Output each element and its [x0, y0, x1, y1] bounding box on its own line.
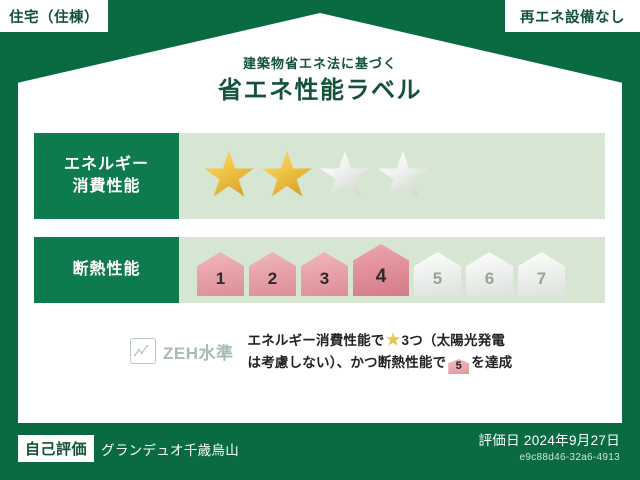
zeh-criteria-text: エネルギー消費性能で3つ（太陽光発電は考慮しない）、かつ断熱性能で5を達成 — [248, 330, 601, 374]
building-name: グランデュオ千歳烏山 — [101, 439, 239, 459]
zeh-note-block: ZEH水準 エネルギー消費性能で3つ（太陽光発電は考慮しない）、かつ断熱性能で5… — [130, 330, 600, 374]
insulation-label-line1: 断熱性能 — [72, 259, 140, 281]
house-icon-grade-5: 5 — [414, 252, 461, 296]
insulation-performance-label: 断熱性能 — [34, 237, 179, 303]
house-icon-grade-7: 7 — [518, 252, 565, 296]
inline-house-icon: 5 — [448, 359, 469, 374]
energy-performance-row: エネルギー 消費性能 — [34, 133, 605, 219]
inline-star-icon — [386, 332, 401, 347]
house-icon-grade-3: 3 — [301, 252, 348, 296]
zeh-badge: ZEH水準 — [130, 338, 234, 364]
renewable-energy-tag: 再エネ設備なし — [505, 0, 640, 32]
evaluation-id: e9c88d46-32a6-4913 — [478, 450, 620, 466]
footer-left-group: 自己評価 グランデュオ千歳烏山 — [18, 435, 239, 462]
note-text-part4: を達成 — [471, 355, 512, 370]
energy-performance-label: エネルギー 消費性能 — [34, 133, 179, 219]
page-title: 建築物省エネ法に基づく 省エネ性能ラベル — [0, 55, 640, 107]
star-icon-4 — [377, 151, 429, 201]
zeh-label: ZEH水準 — [163, 339, 234, 364]
title-main: 省エネ性能ラベル — [0, 75, 640, 107]
building-type-tag: 住宅（住棟） — [0, 0, 108, 32]
note-text-part2: 3つ（太陽光発電 — [402, 333, 506, 348]
insulation-performance-row: 断熱性能 1 2 3 4 5 6 7 — [34, 237, 605, 303]
self-evaluation-badge: 自己評価 — [18, 435, 94, 462]
footer-right-group: 評価日 2024年9月27日 e9c88d46-32a6-4913 — [478, 431, 620, 466]
note-text-part1: エネルギー消費性能で — [248, 333, 385, 348]
evaluation-date: 評価日 2024年9月27日 — [478, 431, 620, 450]
energy-performance-value — [179, 133, 605, 219]
energy-performance-label: 住宅（住棟） 再エネ設備なし 建築物省エネ法に基づく 省エネ性能ラベル エネルギ… — [0, 0, 640, 480]
house-icon-grade-1: 1 — [197, 252, 244, 296]
star-rating — [179, 151, 429, 201]
energy-label-line1: エネルギー — [64, 154, 149, 176]
house-icon-grade-4: 4 — [353, 244, 409, 296]
label-footer: 自己評価 グランデュオ千歳烏山 評価日 2024年9月27日 e9c88d46-… — [0, 423, 640, 480]
star-icon-1 — [203, 151, 255, 201]
zeh-house-icon — [130, 338, 156, 364]
title-subtitle: 建築物省エネ法に基づく — [0, 55, 640, 73]
energy-label-line2: 消費性能 — [72, 176, 140, 198]
star-icon-3 — [319, 151, 371, 201]
house-icon-grade-2: 2 — [249, 252, 296, 296]
note-text-part3: は考慮しない）、かつ断熱性能で — [248, 355, 447, 370]
house-icon-grade-6: 6 — [466, 252, 513, 296]
insulation-grade-scale: 1 2 3 4 5 6 7 — [179, 244, 565, 296]
star-icon-2 — [261, 151, 313, 201]
insulation-performance-value: 1 2 3 4 5 6 7 — [179, 237, 605, 303]
